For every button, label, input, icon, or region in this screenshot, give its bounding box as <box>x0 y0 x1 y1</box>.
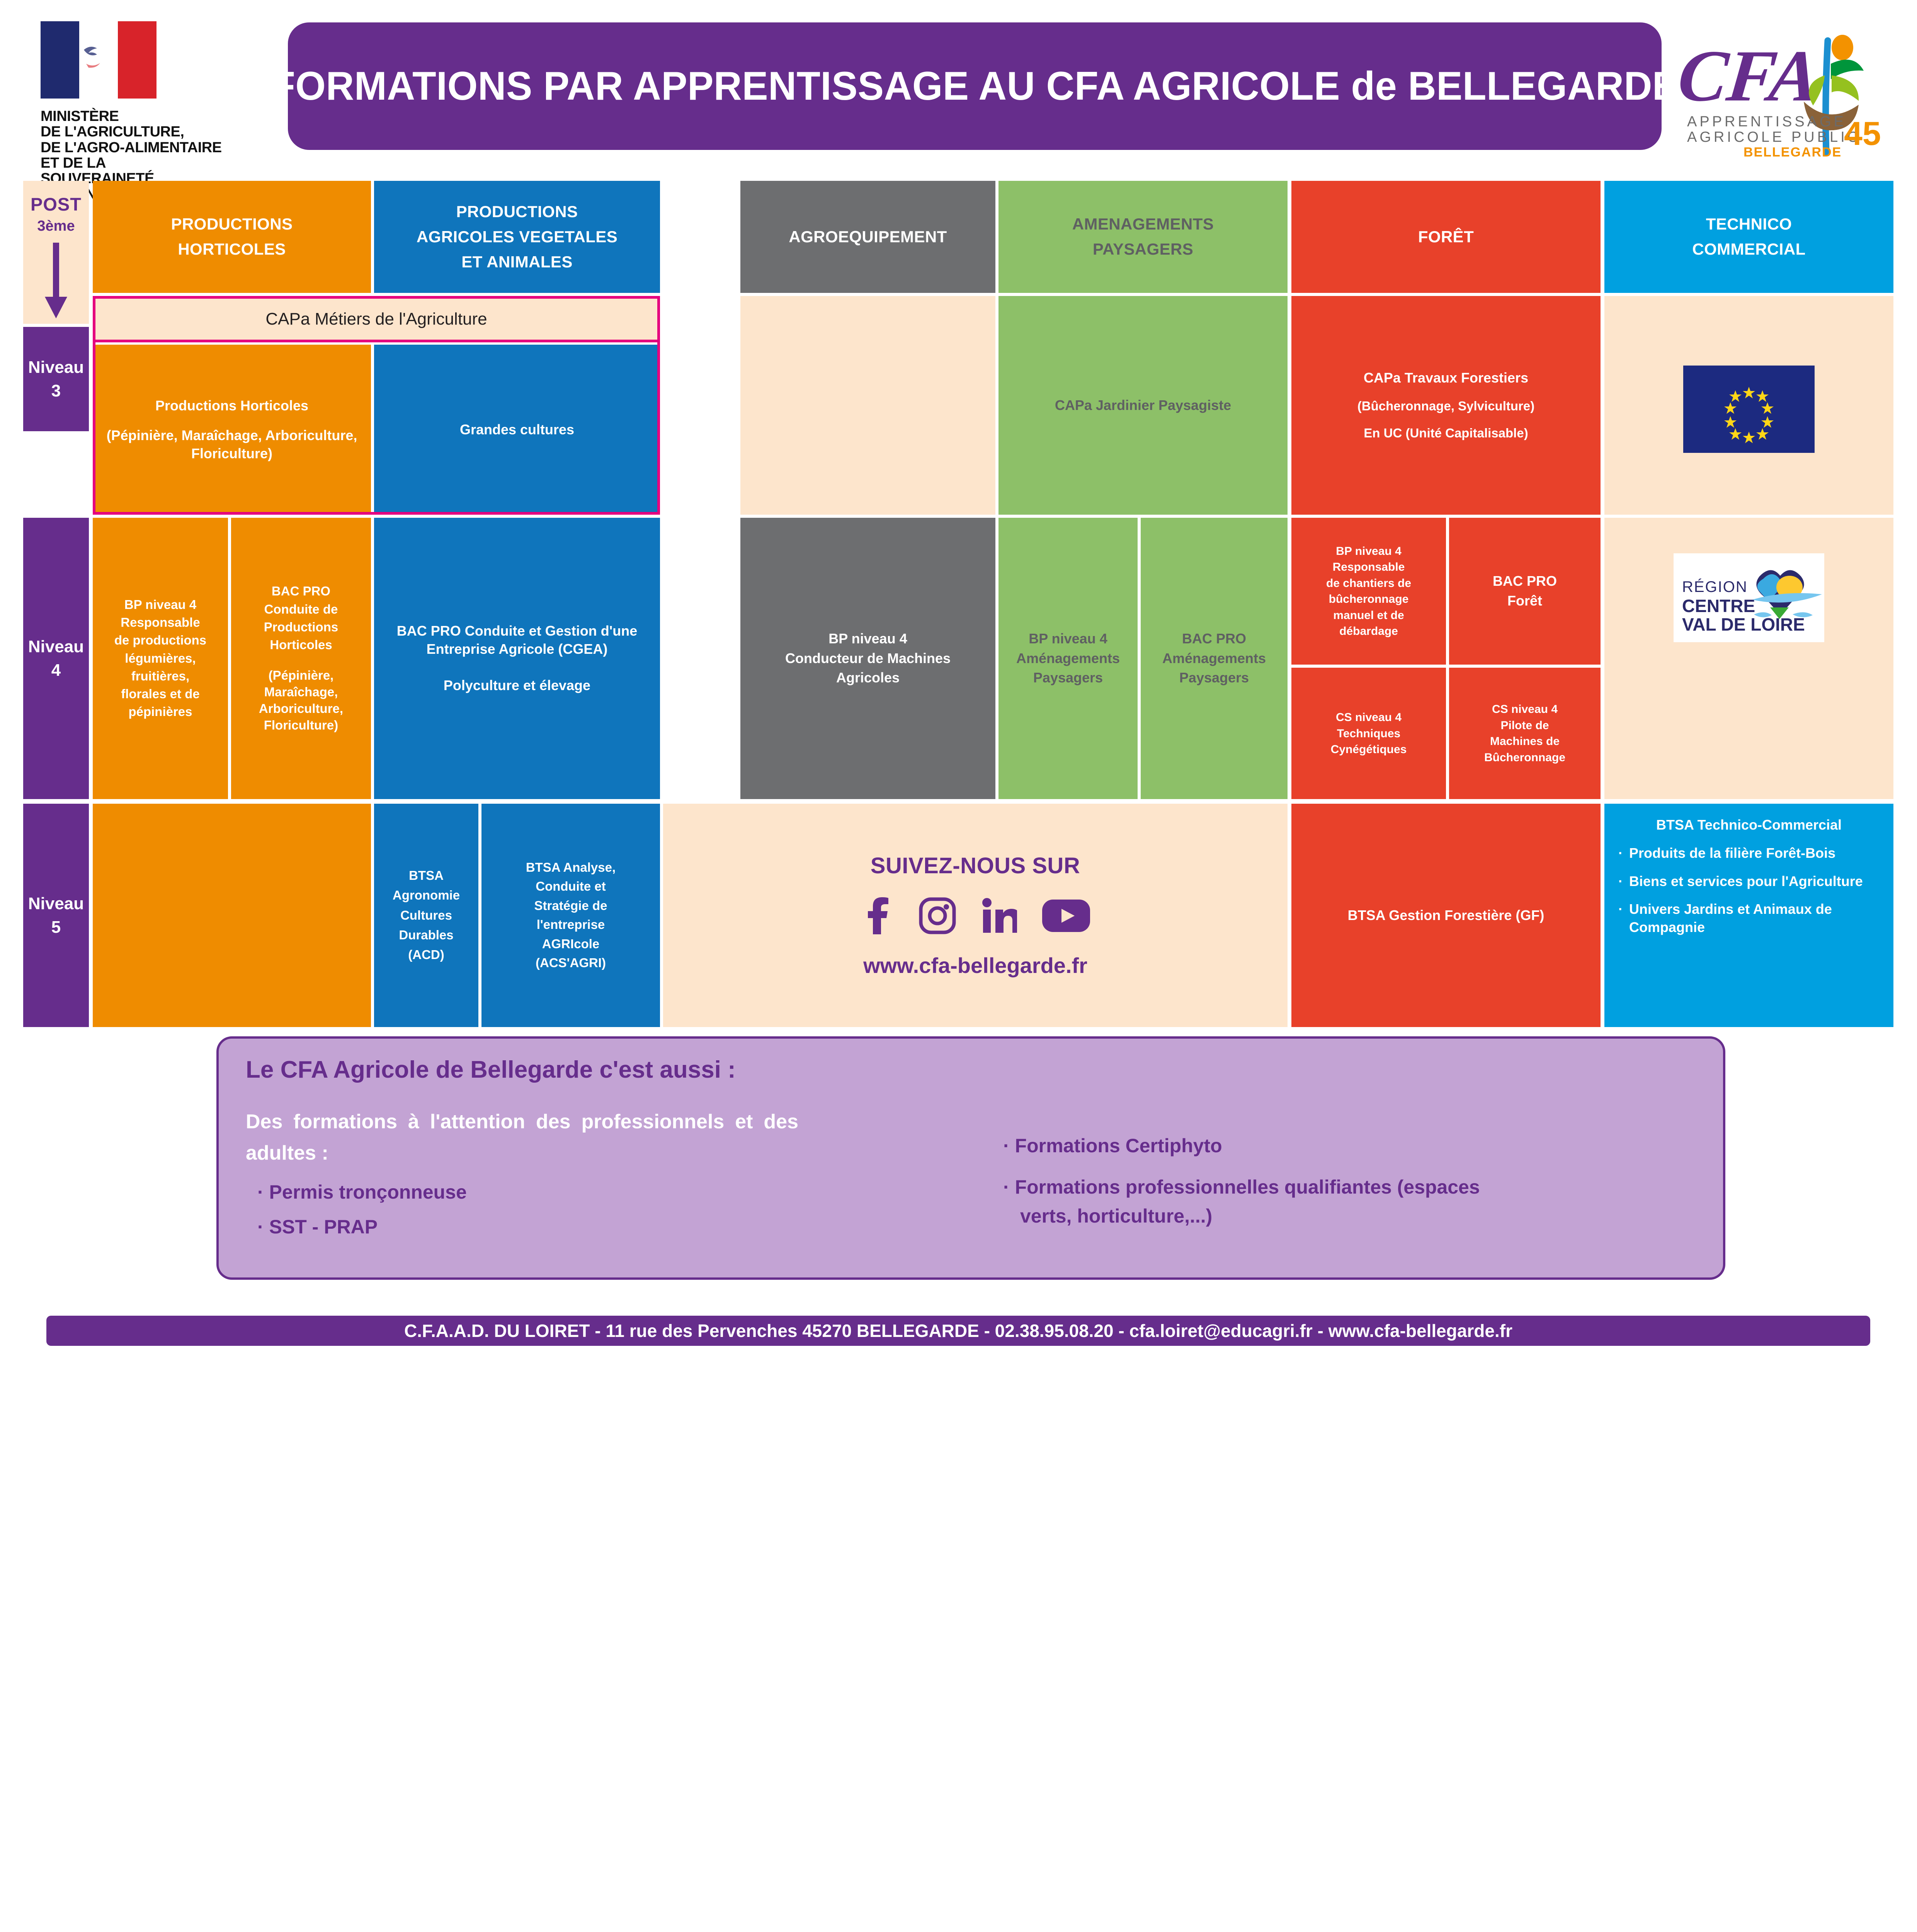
list-item-line: verts, horticulture,...) <box>1003 1202 1699 1231</box>
header-line: AGROEQUIPEMENT <box>789 226 947 248</box>
program-line: fruitières, <box>131 668 189 685</box>
region-centre-val-de-loire-logo: RÉGION CENTRE VAL DE LOIRE <box>1674 553 1824 642</box>
column-header-amenagements-paysagers: AMENAGEMENTS PAYSAGERS <box>998 181 1288 293</box>
program-cs-pilote-machines-bucheronnage-n4: CS niveau 4 Pilote de Machines de Bûcher… <box>1449 668 1601 799</box>
eu-flag-cell <box>1604 296 1893 515</box>
svg-text:RÉGION: RÉGION <box>1682 578 1748 595</box>
ministry-line-1: MINISTÈRE <box>41 109 222 124</box>
bottom-section: Le CFA Agricole de Bellegarde c'est auss… <box>0 1032 1917 1287</box>
program-line: Stratégie de <box>534 898 607 914</box>
program-line: Responsable <box>1333 560 1405 575</box>
program-title: BTSA Gestion Forestière (GF) <box>1348 906 1544 925</box>
program-detail: En UC (Unité Capitalisable) <box>1364 425 1528 442</box>
program-line: légumières, <box>125 650 196 667</box>
program-bp-chantiers-bucheronnage-n4: BP niveau 4 Responsable de chantiers de … <box>1291 518 1446 665</box>
level-name: Niveau <box>28 893 84 915</box>
program-line: (ACD) <box>408 947 444 963</box>
also-offers-intro: Des formations à l'attention des profess… <box>246 1106 798 1168</box>
option-label: Univers Jardins et Animaux de Compagnie <box>1629 900 1890 937</box>
program-line: Agronomie <box>393 887 460 904</box>
option-label: Produits de la filière Forêt-Bois <box>1629 844 1835 862</box>
youtube-icon[interactable] <box>1041 897 1091 934</box>
header-line: PRODUCTIONS <box>171 214 293 235</box>
header-line: TECHNICO <box>1706 214 1792 235</box>
program-line: Productions <box>264 619 338 636</box>
page-title-bar: FORMATIONS PAR APPRENTISSAGE AU CFA AGRI… <box>288 22 1662 150</box>
program-line: CS niveau 4 <box>1336 710 1402 725</box>
program-line: Cynégétiques <box>1331 742 1407 757</box>
list-item: · Univers Jardins et Animaux de Compagni… <box>1618 900 1890 937</box>
level-label-niveau-5: Niveau 5 <box>23 804 89 1027</box>
program-bacpro-amenagements-paysagers-n4: BAC PRO Aménagements Paysagers <box>1141 518 1288 799</box>
program-detail: (Pépinière, Maraîchage, Arboriculture, F… <box>235 667 367 734</box>
program-btsa-acsagri-n5: BTSA Analyse, Conduite et Stratégie de l… <box>481 804 660 1027</box>
column-header-agroequipement: AGROEQUIPEMENT <box>740 181 995 293</box>
header-line: AGRICOLES VEGETALES <box>417 226 617 248</box>
column-header-productions-horticoles: PRODUCTIONS HORTICOLES <box>93 181 371 293</box>
program-productions-horticoles-n3: Productions Horticoles (Pépinière, Maraî… <box>93 345 371 515</box>
header-line: ET ANIMALES <box>461 252 573 273</box>
svg-text:CENTRE: CENTRE <box>1682 596 1755 616</box>
level-label-niveau-3: Niveau 3 <box>23 327 89 431</box>
program-line: BAC PRO <box>1182 630 1246 648</box>
level-label-niveau-4: Niveau 4 <box>23 518 89 799</box>
bullet-icon: · <box>1618 872 1623 890</box>
program-line: BP niveau 4 <box>1029 630 1107 648</box>
also-offers-left-column: Des formations à l'attention des profess… <box>246 1106 980 1238</box>
program-btsa-technico-commercial-n5: BTSA Technico-Commercial · Produits de l… <box>1604 804 1893 1027</box>
column-header-foret: FORÊT <box>1291 181 1601 293</box>
program-bp-amenagements-paysagers-n4: BP niveau 4 Aménagements Paysagers <box>998 518 1138 799</box>
list-item: · Biens et services pour l'Agriculture <box>1618 872 1890 891</box>
program-title: Productions Horticoles <box>155 397 308 415</box>
list-item-line: · Formations professionnelles qualifiant… <box>1003 1176 1480 1198</box>
svg-text:45: 45 <box>1844 115 1881 152</box>
program-line: Conduite et <box>536 878 606 895</box>
also-offers-panel: Le CFA Agricole de Bellegarde c'est auss… <box>216 1036 1725 1280</box>
down-arrow-icon <box>43 243 70 320</box>
cfa-logo-svg: CFA APPRENTISSAGE AGRICOLE PUBLIC BELLEG… <box>1673 17 1905 160</box>
header-line: COMMERCIAL <box>1692 239 1805 260</box>
contact-footer-bar: C.F.A.A.D. DU LOIRET - 11 rue des Perven… <box>46 1316 1870 1346</box>
program-capa-jardinier-paysagiste-n3: CAPa Jardinier Paysagiste <box>998 296 1288 515</box>
program-bp-conducteur-machines-n4: BP niveau 4 Conducteur de Machines Agric… <box>740 518 995 799</box>
cfa-logo: CFA APPRENTISSAGE AGRICOLE PUBLIC BELLEG… <box>1673 17 1905 160</box>
program-line: Aménagements <box>1016 650 1120 668</box>
program-bp-productions-legumieres-n4: BP niveau 4 Responsable de productions l… <box>93 518 228 799</box>
program-line: Paysagers <box>1033 669 1103 687</box>
svg-text:AGRICOLE PUBLIC: AGRICOLE PUBLIC <box>1687 129 1861 145</box>
program-line: de chantiers de <box>1326 576 1411 591</box>
capa-metiers-agriculture-banner: CAPa Métiers de l'Agriculture <box>93 296 660 342</box>
contact-footer-text: C.F.A.A.D. DU LOIRET - 11 rue des Perven… <box>404 1320 1512 1341</box>
program-line: Techniques <box>1337 726 1400 741</box>
program-line: BP niveau 4 <box>1336 544 1402 559</box>
level-name: Niveau <box>28 356 84 378</box>
program-bacpro-cgea-n4: BAC PRO Conduite et Gestion d'une Entrep… <box>374 518 660 799</box>
ministry-line-3: DE L'AGRO-ALIMENTAIRE <box>41 140 222 155</box>
program-detail: Polyculture et élevage <box>444 677 590 695</box>
program-detail: (Pépinière, Maraîchage, Arboriculture, F… <box>97 427 367 463</box>
list-item: · Produits de la filière Forêt-Bois <box>1618 844 1890 862</box>
post-3eme-cell: POST 3ème <box>23 181 89 324</box>
program-line: Horticoles <box>270 637 332 653</box>
header-line: HORTICOLES <box>178 239 286 260</box>
program-line: BP niveau 4 <box>828 630 907 648</box>
social-icon-row[interactable] <box>859 897 1091 934</box>
program-line: BAC PRO <box>1493 572 1557 590</box>
program-cs-techniques-cynegetiques-n4: CS niveau 4 Techniques Cynégétiques <box>1291 668 1446 799</box>
french-flag-icon <box>41 21 156 99</box>
empty-cell-horticoles-n5 <box>93 804 371 1027</box>
linkedin-icon[interactable] <box>980 897 1017 934</box>
program-line: pépinières <box>128 704 192 720</box>
svg-text:APPRENTISSAGE: APPRENTISSAGE <box>1687 114 1846 130</box>
header-line: AMENAGEMENTS <box>1072 214 1214 235</box>
program-line: Aménagements <box>1162 650 1266 668</box>
program-line: Pilote de <box>1500 718 1549 733</box>
program-capa-travaux-forestiers-n3: CAPa Travaux Forestiers (Bûcheronnage, S… <box>1291 296 1601 515</box>
level-number: 3 <box>51 380 61 402</box>
post-sub-label: 3ème <box>37 217 75 236</box>
also-offers-title: Le CFA Agricole de Bellegarde c'est auss… <box>246 1056 736 1083</box>
program-line: BTSA Analyse, <box>526 859 616 876</box>
column-header-productions-agricoles: PRODUCTIONS AGRICOLES VEGETALES ET ANIMA… <box>374 181 660 293</box>
svg-text:BELLEGARDE: BELLEGARDE <box>1744 145 1842 160</box>
facebook-icon[interactable] <box>859 897 895 934</box>
technico-commercial-options: · Produits de la filière Forêt-Bois · Bi… <box>1608 834 1890 937</box>
program-line: Agricoles <box>836 669 900 687</box>
program-line: débardage <box>1339 624 1398 639</box>
program-title: CAPa Travaux Forestiers <box>1364 369 1528 387</box>
program-line: Bûcheronnage <box>1484 750 1565 765</box>
page-title: FORMATIONS PAR APPRENTISSAGE AU CFA AGRI… <box>271 63 1678 109</box>
header-line: PAYSAGERS <box>1093 239 1193 260</box>
bullet-icon: · <box>1618 844 1623 862</box>
program-line: Conducteur de Machines <box>785 650 951 668</box>
post-label: POST <box>31 192 82 216</box>
level-number: 5 <box>51 916 61 938</box>
svg-text:CFA: CFA <box>1674 35 1823 116</box>
program-btsa-gestion-forestiere-n5: BTSA Gestion Forestière (GF) <box>1291 804 1601 1027</box>
program-line: l'entreprise <box>537 917 605 933</box>
svg-text:VAL DE LOIRE: VAL DE LOIRE <box>1682 614 1805 634</box>
bullet-icon: · <box>1618 900 1623 918</box>
program-title: BAC PRO Conduite et Gestion d'une Entrep… <box>378 622 656 658</box>
also-offers-right-column: · Formations Certiphyto · Formations pro… <box>1003 1131 1699 1243</box>
program-title: CAPa Jardinier Paysagiste <box>1055 396 1231 415</box>
empty-cell-agroequipement-n3 <box>740 296 995 515</box>
header-line: PRODUCTIONS <box>456 201 578 223</box>
instagram-icon[interactable] <box>919 897 956 934</box>
formations-grid: POST 3ème PRODUCTIONS HORTICOLES PRODUCT… <box>23 181 1893 1027</box>
program-grandes-cultures-n3: Grandes cultures <box>374 345 660 515</box>
list-item: · Permis tronçonneuse <box>246 1181 980 1203</box>
program-title: Grandes cultures <box>460 421 574 439</box>
program-line: Forêt <box>1507 592 1542 610</box>
program-line: (ACS'AGRI) <box>536 955 606 971</box>
follow-us-panel: SUIVEZ-NOUS SUR www.cfa-bellegarde.fr <box>663 804 1288 1027</box>
website-url[interactable]: www.cfa-bellegarde.fr <box>863 953 1087 978</box>
column-header-technico-commercial: TECHNICO COMMERCIAL <box>1604 181 1893 293</box>
follow-us-heading: SUIVEZ-NOUS SUR <box>871 853 1080 879</box>
program-bacpro-foret-n4: BAC PRO Forêt <box>1449 518 1601 665</box>
program-detail: (Bûcheronnage, Sylviculture) <box>1357 398 1534 415</box>
option-label: Biens et services pour l'Agriculture <box>1629 872 1863 891</box>
program-bacpro-productions-horticoles-n4: BAC PRO Conduite de Productions Horticol… <box>231 518 371 799</box>
program-line: BTSA <box>409 867 444 884</box>
list-item: · Formations Certiphyto <box>1003 1131 1699 1160</box>
level-name: Niveau <box>28 636 84 658</box>
header-line: FORÊT <box>1418 226 1474 248</box>
program-btsa-acd-n5: BTSA Agronomie Cultures Durables (ACD) <box>374 804 478 1027</box>
page-header: MINISTÈRE DE L'AGRICULTURE, DE L'AGRO-AL… <box>0 0 1917 174</box>
program-line: manuel et de <box>1333 608 1404 623</box>
list-item: · Formations professionnelles qualifiant… <box>1003 1173 1699 1231</box>
program-line: Machines de <box>1490 734 1560 749</box>
program-line: Cultures <box>400 907 452 924</box>
capa-banner-label: CAPa Métiers de l'Agriculture <box>265 310 487 329</box>
program-line: bûcheronnage <box>1329 592 1409 607</box>
european-union-flag-icon <box>1683 366 1815 453</box>
program-line: Paysagers <box>1179 669 1249 687</box>
program-line: CS niveau 4 <box>1492 702 1558 717</box>
region-logo-cell: RÉGION CENTRE VAL DE LOIRE <box>1604 518 1893 799</box>
list-item: · SST - PRAP <box>246 1216 980 1238</box>
program-line: de productions <box>114 632 206 649</box>
program-line: AGRIcole <box>542 936 600 952</box>
level-number: 4 <box>51 659 61 681</box>
program-title: BTSA Technico-Commercial <box>1608 816 1890 834</box>
program-line: BP niveau 4 <box>124 597 196 613</box>
ministry-line-2: DE L'AGRICULTURE, <box>41 124 222 139</box>
program-line: florales et de <box>121 686 200 702</box>
program-line: Responsable <box>121 614 200 631</box>
program-line: BAC PRO <box>272 583 330 600</box>
program-line: Conduite de <box>264 601 338 618</box>
program-line: Durables <box>399 927 453 944</box>
